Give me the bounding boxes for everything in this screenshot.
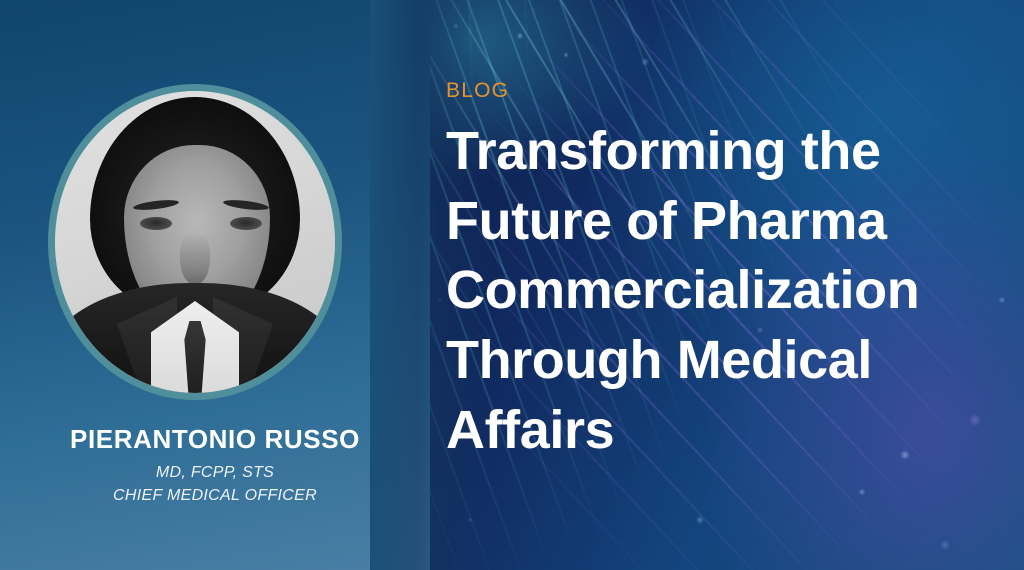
headline-line-1: Transforming the bbox=[446, 117, 976, 187]
blog-promo-banner: PIERANTONIO RUSSO MD, FCPP, STS CHIEF ME… bbox=[0, 0, 1024, 570]
headline-line-5: Affairs bbox=[446, 396, 976, 466]
speaker-name: PIERANTONIO RUSSO bbox=[0, 425, 430, 455]
headline-line-3: Commercialization bbox=[446, 256, 976, 326]
page-title: Transforming the Future of Pharma Commer… bbox=[446, 117, 976, 465]
photo-eye-left bbox=[140, 217, 172, 230]
speaker-caption: PIERANTONIO RUSSO MD, FCPP, STS CHIEF ME… bbox=[0, 425, 430, 507]
photo-nose bbox=[180, 233, 210, 285]
portrait-photo bbox=[55, 91, 335, 393]
avatar bbox=[48, 84, 342, 400]
headline-line-2: Future of Pharma bbox=[446, 187, 976, 257]
category-label: BLOG bbox=[446, 80, 976, 101]
banner-content: BLOG Transforming the Future of Pharma C… bbox=[446, 80, 976, 465]
photo-eye-right bbox=[230, 217, 262, 230]
headline-line-4: Through Medical bbox=[446, 326, 976, 396]
speaker-role: CHIEF MEDICAL OFFICER bbox=[0, 484, 430, 507]
speaker-credentials: MD, FCPP, STS bbox=[0, 461, 430, 484]
portrait-ring bbox=[48, 84, 342, 400]
